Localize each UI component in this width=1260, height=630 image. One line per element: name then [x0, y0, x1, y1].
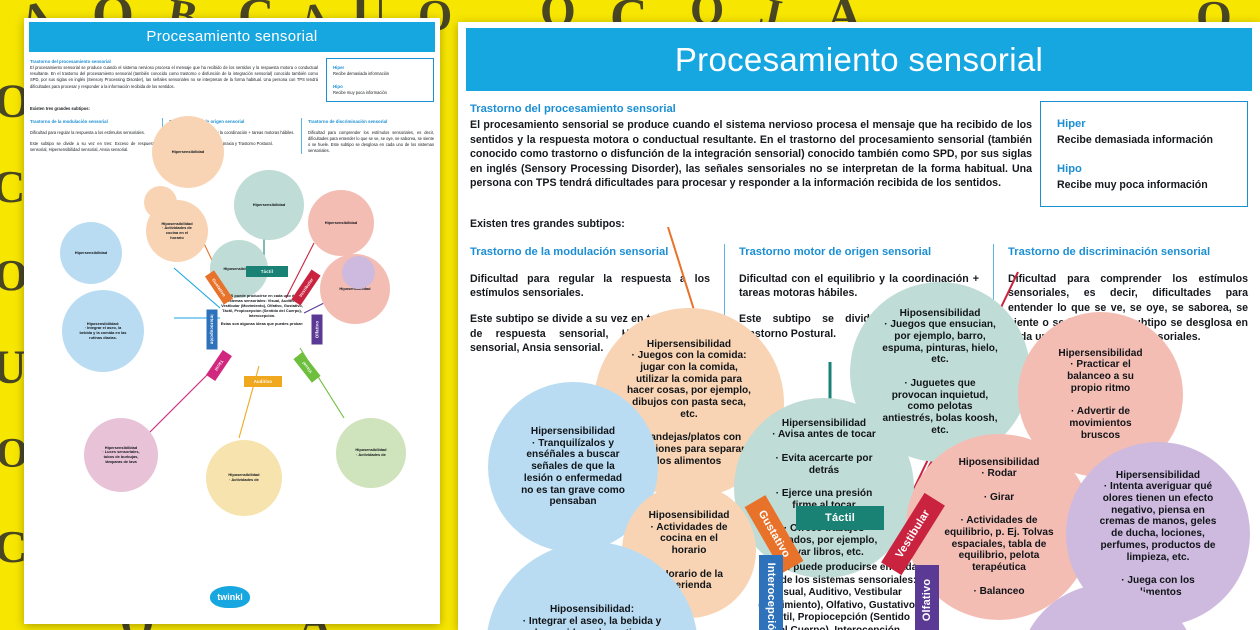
bubble-gusto-hipo: Hiposensibilidad · Actividades de cocina… [622, 484, 756, 618]
subtype-heading: Trastorno motor de origen sensorial [169, 118, 295, 125]
subtype-motor: Trastorno motor de origen sensorial Difi… [724, 244, 979, 356]
bubble-vest-hiper: Hipersensibilidad [308, 190, 374, 256]
bubble-vis-hipo: Hiposensibilidad· Actividades de [336, 418, 406, 488]
tag-olfativo[interactable]: Olfativo [915, 565, 939, 630]
subtype-p1: Dificultad para regular la respuesta a l… [30, 130, 156, 136]
tag-interocepcion[interactable]: Interocepción [759, 555, 783, 630]
legend-hipo-text: Recibe muy poca información [1057, 178, 1231, 193]
subtype-heading: Trastorno motor de origen sensorial [739, 244, 979, 261]
bubble-olf-hiper: Hipersensibilidad · Intenta averiguar qu… [1066, 442, 1250, 626]
subtype-p2: Este subtipo se divide en: Dispraxia y T… [739, 312, 979, 341]
subtype-p1: Dificultad con el equilibrio y la coordi… [739, 272, 979, 301]
hub-text-left: El TPS puede producirse en cada uno de l… [220, 294, 304, 327]
bubble-tact-hipo: Hiposensibilidad [210, 240, 268, 298]
tag-interocepcion-left[interactable]: Interocepción [207, 310, 218, 350]
hub-text: El TPS puede producirse en cada uno de l… [758, 562, 918, 630]
screenshot-canvas: A O B C A U O O C O J A Q O C O U O C O … [0, 0, 1260, 630]
subtype-p2: Este subtipo se divide a su vez en tres:… [470, 312, 710, 356]
tag-tactil[interactable]: Táctil [796, 506, 884, 530]
bubble-gusto-hipo: Hiposensibilidad· Actividades de cocina … [146, 200, 208, 262]
subtype-p1: Dificultad para comprender los estímulos… [1008, 272, 1248, 345]
tag-tactil-left[interactable]: Táctil [246, 266, 288, 277]
legend-hipo-title-left: Hipo [333, 83, 427, 90]
intro-paragraph-left: El procesamiento sensorial se produce cu… [30, 65, 318, 90]
legend-hiper-title-left: Hiper [333, 64, 427, 71]
legend-hipo-title: Hipo [1057, 161, 1231, 178]
bubble-vest-hipo: Hiposensibilidad [320, 254, 390, 324]
bubble-tactil-hiper: Hipersensibilidad [60, 222, 122, 284]
legend-box: Hiper Recibe demasiada información Hipo … [1040, 101, 1248, 207]
bubble-aud-hipo: Hiposensibilidad· Actividades de [206, 440, 282, 516]
twinkl-logo-left: twinkl [210, 586, 250, 608]
bubble-olf-hipo: Hiposensibilidad · Utiliza una gama de o… [1018, 584, 1198, 630]
bubble-intero-hipo: Hiposensibilidad: · Integrar el aseo, la… [486, 542, 698, 630]
tag-auditivo-left[interactable]: Auditivo [244, 376, 282, 387]
subtype-modulacion: Trastorno de la modulación sensorial Dif… [470, 244, 710, 356]
tag-gustativo[interactable]: Gustativo [745, 495, 804, 573]
subtype-heading: Trastorno de discriminación sensorial [1008, 244, 1248, 261]
subtype-p2: Este subtipo se divide a su vez en tres:… [30, 141, 156, 153]
bubble-tactil-hiper: Hipersensibilidad · Tranquilízalos y ens… [488, 382, 658, 552]
bubble-spacer [144, 186, 177, 219]
subtype-p1: Dificultad para comprender los estímulos… [308, 130, 434, 155]
exist-line: Existen tres grandes subtipos: [470, 217, 1248, 232]
tag-gustativo-left[interactable]: Gustativo [205, 270, 233, 304]
subtype-p1: Dificultad para regular la respuesta a l… [470, 272, 710, 301]
poster-title-right: Procesamiento sensorial [466, 28, 1252, 91]
bubble-vest-hipo: Hiposensibilidad · Rodar · Girar · Activ… [906, 434, 1092, 620]
bubble-spacer-2 [342, 256, 375, 289]
subtype-discriminacion: Trastorno de discriminación sensorial Di… [993, 244, 1248, 356]
bubble-intero-hipo: Hiposensibilidad:· Integrar el aseo, la … [62, 290, 144, 372]
tag-vestibular[interactable]: Vestibular [881, 493, 945, 575]
subtype-heading: Trastorno de la modulación sensorial [470, 244, 710, 261]
subtype-modulacion-left: Trastorno de la modulación sensorial Dif… [30, 118, 156, 155]
poster-title-left: Procesamiento sensorial [29, 22, 435, 52]
tag-olfativo-left[interactable]: Olfativo [312, 315, 323, 345]
bubble-tact-hiper2: Hipersensibilidad · Avisa antes de tocar… [734, 398, 914, 578]
tag-tactil2-left[interactable]: Táctil [206, 350, 232, 381]
poster-main-right[interactable]: Procesamiento sensorial Trastorno del pr… [458, 22, 1260, 630]
intro-paragraph: El procesamiento sensorial se produce cu… [470, 118, 1032, 191]
legend-hipo-text-left: Recibe muy poca información [333, 90, 427, 96]
bubble-tact-hiper2: Hipersensibilidad [234, 170, 304, 240]
poster-thumbnail-left[interactable]: Procesamiento sensorial Trastorno del pr… [24, 18, 440, 624]
legend-hiper-title: Hiper [1057, 116, 1231, 133]
exist-line-left: Existen tres grandes subtipos: [30, 106, 434, 112]
subtype-p1: Dificultad con el equilibrio y la coordi… [169, 130, 295, 136]
subtype-motor-left: Trastorno motor de origen sensorial Difi… [162, 118, 295, 155]
legend-hiper-text: Recibe demasiada información [1057, 133, 1231, 148]
tag-visual-left[interactable]: Visual [293, 352, 320, 382]
legend-box-left: Hiper Recibe demasiada información Hipo … [326, 58, 434, 102]
subtype-p2: Este subtipo se divide en: Dispraxia y T… [169, 141, 295, 147]
intro-heading-left: Trastorno del procesamiento sensorial [30, 58, 318, 65]
subtype-heading: Trastorno de discriminación sensorial [308, 118, 434, 125]
subtype-discriminacion-left: Trastorno de discriminación sensorial Di… [301, 118, 434, 155]
bubble-aud-hiper: Hipersensibilidad· Luces sensoriales, tu… [84, 418, 158, 492]
tag-vestibular-left[interactable]: Vestibular [291, 270, 320, 306]
intro-heading: Trastorno del procesamiento sensorial [470, 101, 1032, 118]
subtype-heading: Trastorno de la modulación sensorial [30, 118, 156, 125]
